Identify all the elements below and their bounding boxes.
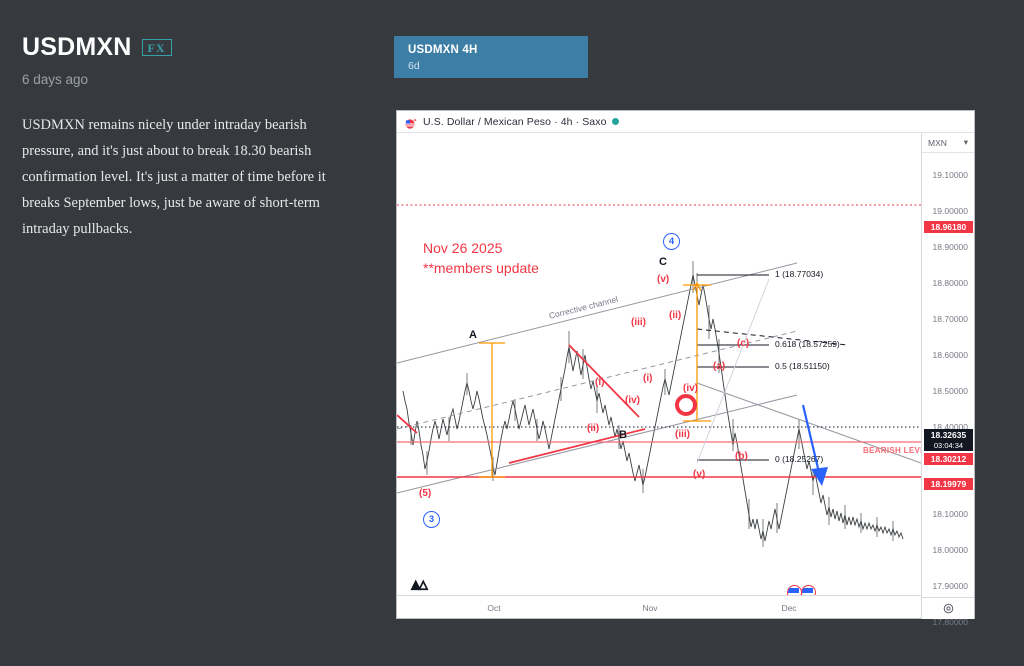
idea-tab-subtitle: 6d xyxy=(408,60,420,72)
chart-header: U.S. Dollar / Mexican Peso · 4h · Saxo xyxy=(397,111,974,133)
wave-label-3: 3 xyxy=(423,511,440,528)
price-tick: 18.70000 xyxy=(933,314,968,324)
article-panel: USDMXN FX 6 days ago USDMXN remains nice… xyxy=(0,0,380,666)
fib-label-05: 0.5 (18.51150) xyxy=(775,361,830,371)
published-timestamp: 6 days ago xyxy=(22,72,88,87)
price-tick: 18.60000 xyxy=(933,350,968,360)
measure-tool-left xyxy=(479,343,505,477)
chevron-down-icon[interactable]: ▾ xyxy=(964,137,968,148)
time-tick: Dec xyxy=(781,603,796,613)
wave-label-iii-2: (iii) xyxy=(675,429,690,440)
currency-selector[interactable]: MXN ▾ xyxy=(922,133,974,153)
economic-event-flag[interactable] xyxy=(787,585,802,595)
wave-label-c: (c) xyxy=(737,338,749,349)
entry-marker-circle xyxy=(677,396,695,414)
wave-label-a: (a) xyxy=(713,361,725,372)
status-badge-bearish: 18.30212 xyxy=(924,453,973,465)
price-tick: 18.90000 xyxy=(933,242,968,252)
article-body-text: USDMXN remains nicely under intraday bea… xyxy=(22,112,332,242)
chart-symbol-label: U.S. Dollar / Mexican Peso · 4h · Saxo xyxy=(423,116,607,128)
chart-plot-area[interactable]: Nov 26 2025 **members update Corrective … xyxy=(397,133,921,595)
chart-note: Nov 26 2025 **members update xyxy=(423,238,539,278)
asset-class-badge: FX xyxy=(142,39,172,56)
idea-tab-title: USDMXN 4H xyxy=(408,44,478,56)
price-wicks xyxy=(411,261,893,547)
price-tick: 19.00000 xyxy=(933,206,968,216)
wave-label-5: (5) xyxy=(419,488,431,499)
price-tick: 17.90000 xyxy=(933,581,968,591)
wave-label-ii-2: (ii) xyxy=(587,423,599,434)
economic-event-flag[interactable] xyxy=(801,585,816,595)
flag-icon xyxy=(405,116,418,127)
price-tick: 18.80000 xyxy=(933,278,968,288)
time-axis[interactable]: Oct Nov Dec xyxy=(397,595,921,619)
last-price-badge: 18.32635 03:04:34 xyxy=(924,429,973,451)
chart-drawings xyxy=(397,133,921,595)
red-trendlines xyxy=(397,345,645,463)
chart-note-line2: **members update xyxy=(423,258,539,278)
wave-label-v-2: (v) xyxy=(693,469,705,480)
currency-label: MXN xyxy=(928,138,947,148)
projection-arrow xyxy=(803,405,828,486)
wave-label-b: (b) xyxy=(735,451,748,462)
wave-label-i-1: (i) xyxy=(643,373,652,384)
wave-label-iv-1: (iv) xyxy=(625,395,640,406)
price-series xyxy=(403,275,903,541)
price-axis[interactable]: MXN ▾ 19.10000 19.00000 18.96180 18.9000… xyxy=(921,133,974,619)
bar-countdown: 03:04:34 xyxy=(924,441,973,451)
price-tick: 18.50000 xyxy=(933,386,968,396)
fib-label-0: 0 (18.25267) xyxy=(775,454,823,464)
chart-note-line1: Nov 26 2025 xyxy=(423,238,539,258)
wave-label-4: 4 xyxy=(663,233,680,250)
gear-icon xyxy=(943,603,954,614)
chart-settings-button[interactable] xyxy=(922,597,974,619)
idea-tab-card[interactable]: USDMXN 4H 6d xyxy=(394,36,588,78)
time-tick: Nov xyxy=(642,603,657,613)
wave-label-A: A xyxy=(469,329,477,341)
market-status-dot xyxy=(612,118,619,125)
tradingview-chart: U.S. Dollar / Mexican Peso · 4h · Saxo xyxy=(396,110,975,619)
bearish-level-label: BEARISH LEVEL xyxy=(863,446,921,455)
fib-label-0618: 0.618 (18.57259) xyxy=(775,339,840,349)
status-badge-resistance: 18.96180 xyxy=(924,221,973,233)
article-header: USDMXN FX xyxy=(22,33,172,62)
wave-label-i-2: (i) xyxy=(595,377,604,388)
wave-label-ii-1: (ii) xyxy=(669,310,681,321)
time-tick: Oct xyxy=(487,603,500,613)
tradingview-logo: ▴▵ xyxy=(411,573,426,595)
price-tick: 19.10000 xyxy=(933,170,968,180)
wave-label-iv-2: (iv) xyxy=(683,383,698,394)
price-tick: 18.10000 xyxy=(933,509,968,519)
wave-label-iii-1: (iii) xyxy=(631,317,646,328)
fib-label-1: 1 (18.77034) xyxy=(775,269,823,279)
price-tick: 18.00000 xyxy=(933,545,968,555)
wave-label-v-1: (v) xyxy=(657,274,669,285)
wave-label-B: B xyxy=(619,429,627,441)
page-title: USDMXN xyxy=(22,33,132,62)
wave-label-C: C xyxy=(659,256,667,268)
screenshot-root: USDMXN FX 6 days ago USDMXN remains nice… xyxy=(0,0,1024,666)
status-badge-support: 18.19979 xyxy=(924,478,973,490)
last-price-value: 18.32635 xyxy=(931,430,966,440)
